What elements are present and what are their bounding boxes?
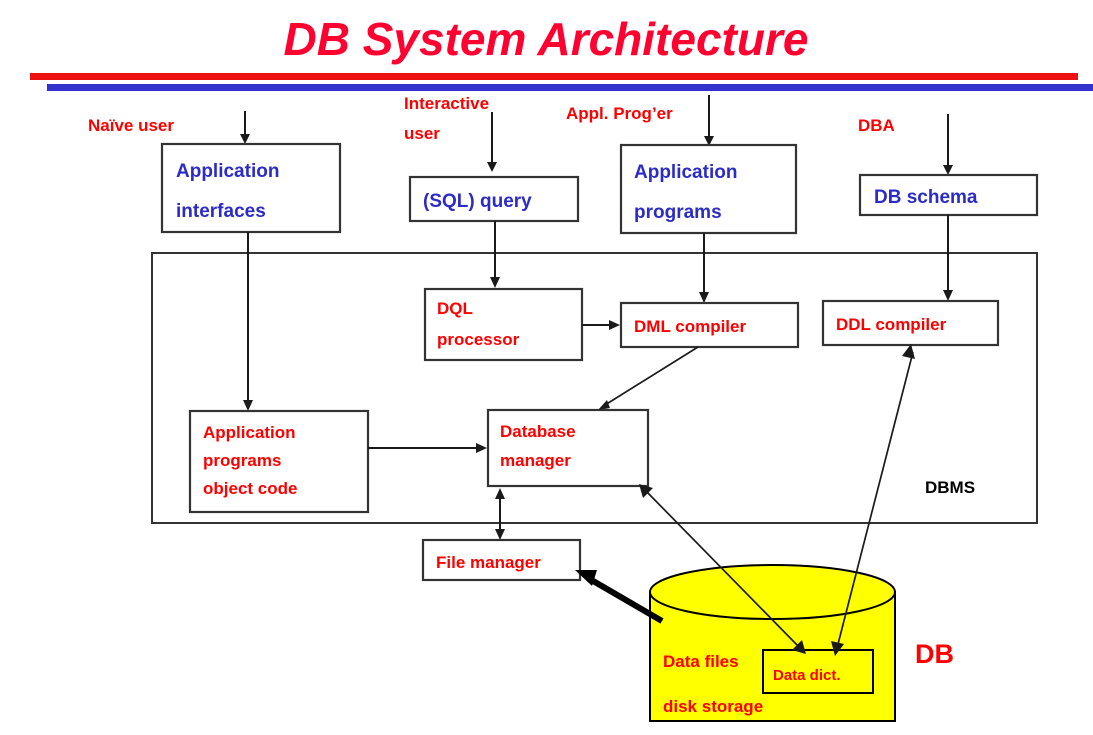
box-sql-query[interactable]: (SQL) query [410, 177, 578, 221]
box-object-code-line3: object code [203, 479, 297, 498]
db-cylinder[interactable]: Data files disk storage [650, 565, 895, 721]
arrow-object-code-to-database-manager [368, 443, 487, 453]
box-application-programs[interactable]: Application programs [621, 145, 796, 233]
arrow-sql-query-to-dql-processor [490, 221, 500, 288]
box-dql-processor[interactable]: DQL processor [425, 289, 582, 360]
box-database-manager-line1: Database [500, 422, 576, 441]
db-label: DB [915, 639, 954, 669]
arrow-application-interfaces-to-object-code [243, 232, 253, 411]
box-data-dictionary[interactable]: Data dict. [763, 650, 873, 693]
arrow-dba-to-db-schema [943, 114, 953, 175]
box-object-code-line1: Application [203, 423, 296, 442]
box-db-schema-line1: DB schema [874, 187, 978, 208]
box-application-programs-line2: programs [634, 202, 722, 223]
box-database-manager[interactable]: Database manager [488, 410, 648, 486]
slide-canvas: DB System Architecture Naïve user Intera… [0, 0, 1093, 735]
box-application-programs-object-code[interactable]: Application programs object code [190, 411, 368, 512]
box-ddl-compiler[interactable]: DDL compiler [823, 301, 998, 345]
architecture-diagram: DB System Architecture Naïve user Intera… [0, 0, 1093, 735]
arrow-naive-user-to-application-interfaces [240, 111, 250, 144]
box-application-interfaces[interactable]: Application interfaces [162, 144, 340, 232]
divider-rule-red [30, 73, 1078, 80]
arrow-db-schema-to-ddl-compiler [943, 215, 953, 301]
box-object-code-line2: programs [203, 451, 281, 470]
box-db-schema[interactable]: DB schema [860, 175, 1037, 215]
box-ddl-compiler-line1: DDL compiler [836, 315, 947, 334]
arrow-dml-compiler-to-database-manager [598, 347, 698, 410]
box-dql-processor-line2: processor [437, 330, 520, 349]
divider-rule-blue [47, 84, 1093, 91]
arrow-dql-processor-to-dml-compiler [582, 320, 620, 330]
arrow-application-programs-to-dml-compiler [699, 233, 709, 303]
arrow-database-manager-file-manager-bidirectional [495, 488, 505, 540]
box-file-manager-label: File manager [436, 553, 541, 572]
box-application-interfaces-line2: interfaces [176, 201, 266, 222]
arrow-interactive-user-to-sql-query [487, 112, 497, 172]
actor-label-naive-user: Naïve user [88, 116, 174, 135]
dbms-label: DBMS [925, 478, 975, 497]
actor-label-interactive-user-line1: Interactive [404, 94, 489, 113]
page-title: DB System Architecture [284, 13, 809, 65]
box-dml-compiler-line1: DML compiler [634, 317, 746, 336]
box-application-programs-line1: Application [634, 162, 737, 183]
box-data-dictionary-label: Data dict. [773, 667, 841, 684]
actor-label-dba: DBA [858, 116, 895, 135]
db-cylinder-line2: disk storage [663, 697, 763, 716]
box-application-interfaces-line1: Application [176, 161, 279, 182]
actor-label-interactive-user-line2: user [404, 124, 440, 143]
arrow-appl-programmer-to-application-programs [704, 95, 714, 146]
actor-label-appl-programmer: Appl. Prog’er [566, 104, 673, 123]
box-sql-query-line1: (SQL) query [423, 191, 532, 212]
box-dql-processor-line1: DQL [437, 299, 473, 318]
box-database-manager-line2: manager [500, 451, 571, 470]
db-cylinder-line1: Data files [663, 652, 739, 671]
box-dml-compiler[interactable]: DML compiler [621, 303, 798, 347]
arrow-db-to-file-manager-thick [575, 570, 662, 621]
box-file-manager[interactable]: File manager [423, 540, 580, 580]
